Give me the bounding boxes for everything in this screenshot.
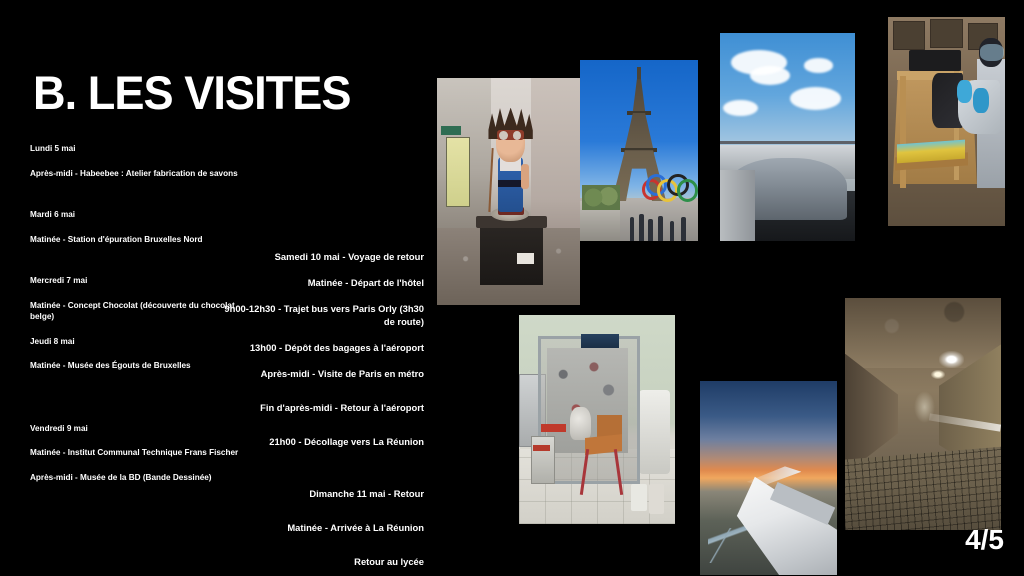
left-entry-lundi-activity: Après-midi - Habeebee : Atelier fabricat… — [30, 168, 252, 180]
left-entry-jeudi-day: Jeudi 8 mai — [30, 336, 252, 348]
photo-content — [845, 298, 1001, 530]
center-entry-dimanche-1: Matinée - Arrivée à La Réunion — [222, 521, 424, 534]
soap-workshop-photo — [888, 17, 1005, 226]
lab-red-component — [541, 424, 566, 432]
left-entry-jeudi-activity: Matinée - Musée des Égouts de Bruxelles — [30, 360, 252, 372]
airplane-wingtip — [747, 466, 802, 485]
spacer — [30, 245, 252, 275]
eiffel-antenna — [637, 67, 641, 80]
photo-content — [700, 381, 837, 575]
spacer — [222, 263, 424, 276]
wall-shelf-box — [930, 19, 962, 48]
wooden-frame-post — [900, 76, 906, 189]
center-entry-samedi-5: Fin d'après-midi - Retour à l'aéroport — [222, 401, 424, 414]
river-tributary — [703, 528, 741, 563]
spacer — [30, 347, 252, 360]
left-entry-mercredi-day: Mercredi 7 mai — [30, 275, 252, 287]
cloud — [750, 66, 791, 85]
page-number: 4/5 — [965, 524, 1004, 556]
spacer — [30, 179, 252, 209]
center-entry-samedi-3: 13h00 - Dépôt des bagages à l'aéroport — [222, 341, 424, 354]
spacer — [30, 323, 252, 336]
photo-content — [519, 315, 675, 524]
lab-machine-indicator — [533, 445, 550, 451]
blue-glove — [973, 88, 988, 113]
spacer — [222, 414, 424, 435]
crowd-person — [681, 217, 686, 241]
spacer — [30, 155, 252, 168]
spacer — [222, 448, 424, 478]
plant-walkway — [720, 170, 755, 241]
spacer — [222, 478, 424, 487]
crowd-person — [658, 216, 663, 241]
comic-mascot-statue-photo — [437, 78, 580, 305]
photo-content — [437, 78, 580, 305]
left-entry-vendredi-day: Vendredi 9 mai — [30, 423, 252, 435]
left-entry-mardi-activity: Matinée - Station d'épuration Bruxelles … — [30, 234, 252, 246]
spacer — [30, 402, 252, 423]
left-itinerary-column: Lundi 5 mai Après-midi - Habeebee : Atel… — [30, 143, 252, 483]
lab-vessel — [570, 407, 590, 440]
water-treatment-plant-photo — [720, 33, 855, 241]
center-entry-samedi-title: Samedi 10 mai - Voyage de retour — [222, 250, 424, 263]
photo-content — [580, 60, 698, 241]
eiffel-upper-section — [632, 79, 645, 114]
tunnel-ceiling — [845, 298, 1001, 368]
wall-shelf-box — [893, 21, 925, 50]
spacer — [222, 354, 424, 367]
cloud — [790, 87, 841, 110]
crowd-person — [639, 214, 644, 241]
black-soap-mold — [909, 50, 960, 71]
center-entry-dimanche-2: Retour au lycée — [222, 555, 424, 568]
cloud — [723, 100, 758, 117]
presentation-slide: B. LES VISITES Lundi 5 mai Après-midi - … — [0, 0, 1024, 576]
center-entry-dimanche-title: Dimanche 11 mai - Retour — [222, 487, 424, 500]
eiffel-tower-olympic-rings-photo — [580, 60, 698, 241]
tunnel-lamp — [931, 370, 945, 379]
plaza-bush — [582, 185, 620, 210]
crowd-person — [630, 217, 635, 241]
photo-content — [720, 33, 855, 241]
spacer — [222, 500, 424, 521]
spacer — [222, 328, 424, 341]
worker-face-shield — [980, 44, 1003, 61]
spacer — [30, 287, 252, 300]
spacer — [222, 289, 424, 302]
left-entry-lundi-day: Lundi 5 mai — [30, 143, 252, 155]
pedestal-label — [517, 253, 534, 264]
return-journey-column: Samedi 10 mai - Voyage de retour Matinée… — [222, 250, 424, 568]
statue-arm — [521, 164, 530, 189]
technical-institute-lab-photo — [519, 315, 675, 524]
hallway-sign — [441, 126, 461, 135]
left-entry-vendredi-activity-1: Matinée - Institut Communal Technique Fr… — [30, 447, 252, 459]
tunnel-lamp — [939, 351, 964, 367]
plastic-jug — [631, 484, 647, 511]
blue-glove — [957, 80, 972, 103]
lab-machine-unit — [531, 436, 555, 484]
cloud — [804, 58, 834, 73]
center-entry-samedi-4: Après-midi - Visite de Paris en métro — [222, 367, 424, 380]
spacer — [30, 372, 252, 402]
sewer-tunnel-photo — [845, 298, 1001, 530]
left-entry-mercredi-activity: Matinée - Concept Chocolat (découverte d… — [30, 300, 252, 323]
crowd-person — [670, 221, 675, 241]
statue-belt — [498, 180, 522, 187]
spacer — [222, 534, 424, 555]
center-entry-samedi-1: Matinée - Départ de l'hôtel — [222, 276, 424, 289]
spacer — [30, 221, 252, 234]
statue-goggle-lens-left — [499, 131, 508, 140]
left-entry-vendredi-activity-2: Après-midi - Musée de la BD (Bande Dessi… — [30, 472, 252, 484]
crowd-person — [648, 219, 653, 241]
olympic-ring-green — [677, 179, 698, 201]
slide-title: B. LES VISITES — [33, 67, 351, 119]
photo-content — [888, 17, 1005, 226]
spacer — [222, 380, 424, 401]
center-entry-samedi-2: 9h00-12h30 - Trajet bus vers Paris Orly … — [222, 302, 424, 328]
center-entry-samedi-6: 21h00 - Décollage vers La Réunion — [222, 435, 424, 448]
plant-railing — [720, 141, 855, 144]
spacer — [30, 434, 252, 447]
plastic-jug — [649, 484, 665, 513]
statue-goggle-lens-right — [513, 131, 522, 140]
airplane-wing-sunset-photo — [700, 381, 837, 575]
lab-storage-tank — [639, 390, 670, 474]
spacer — [30, 459, 252, 472]
left-entry-mardi-day: Mardi 6 mai — [30, 209, 252, 221]
hallway-door — [446, 137, 471, 207]
